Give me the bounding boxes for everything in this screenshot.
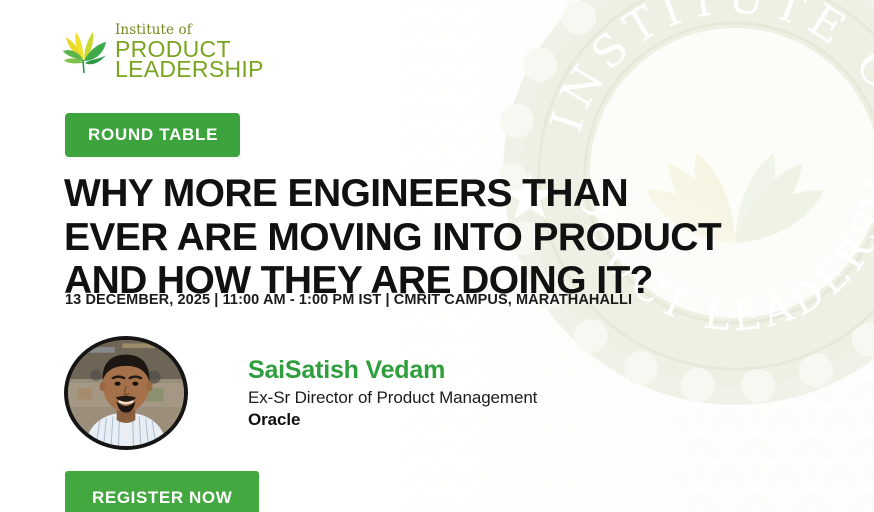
speaker-info: SaiSatish Vedam Ex-Sr Director of Produc… xyxy=(248,356,537,431)
speaker-avatar xyxy=(64,336,188,450)
institute-logo: Institute of PRODUCT LEADERSHIP xyxy=(63,22,264,81)
speaker-name: SaiSatish Vedam xyxy=(248,356,537,386)
event-details: 13 DECEMBER, 2025 | 11:00 AM - 1:00 PM I… xyxy=(65,292,632,308)
speaker-company: Oracle xyxy=(248,410,537,430)
poster-content: Institute of PRODUCT LEADERSHIP ROUND TA… xyxy=(0,0,874,512)
page-title: WHY MORE ENGINEERS THAN EVER ARE MOVING … xyxy=(64,172,754,303)
event-poster: INSTITUTE OF PRODUCT LEADERSHIP xyxy=(0,0,874,512)
headline-line-2: EVER ARE MOVING INTO PRODUCT xyxy=(64,216,754,260)
logo-leadership-text: LEADERSHIP xyxy=(115,59,264,81)
speaker-role: Ex-Sr Director of Product Management xyxy=(248,388,537,408)
speaker-block: SaiSatish Vedam Ex-Sr Director of Produc… xyxy=(64,336,537,450)
lotus-leaf-icon xyxy=(63,26,107,74)
headline-line-1: WHY MORE ENGINEERS THAN xyxy=(64,172,754,216)
round-table-badge: ROUND TABLE xyxy=(65,113,240,157)
register-now-button[interactable]: REGISTER NOW xyxy=(65,471,259,512)
